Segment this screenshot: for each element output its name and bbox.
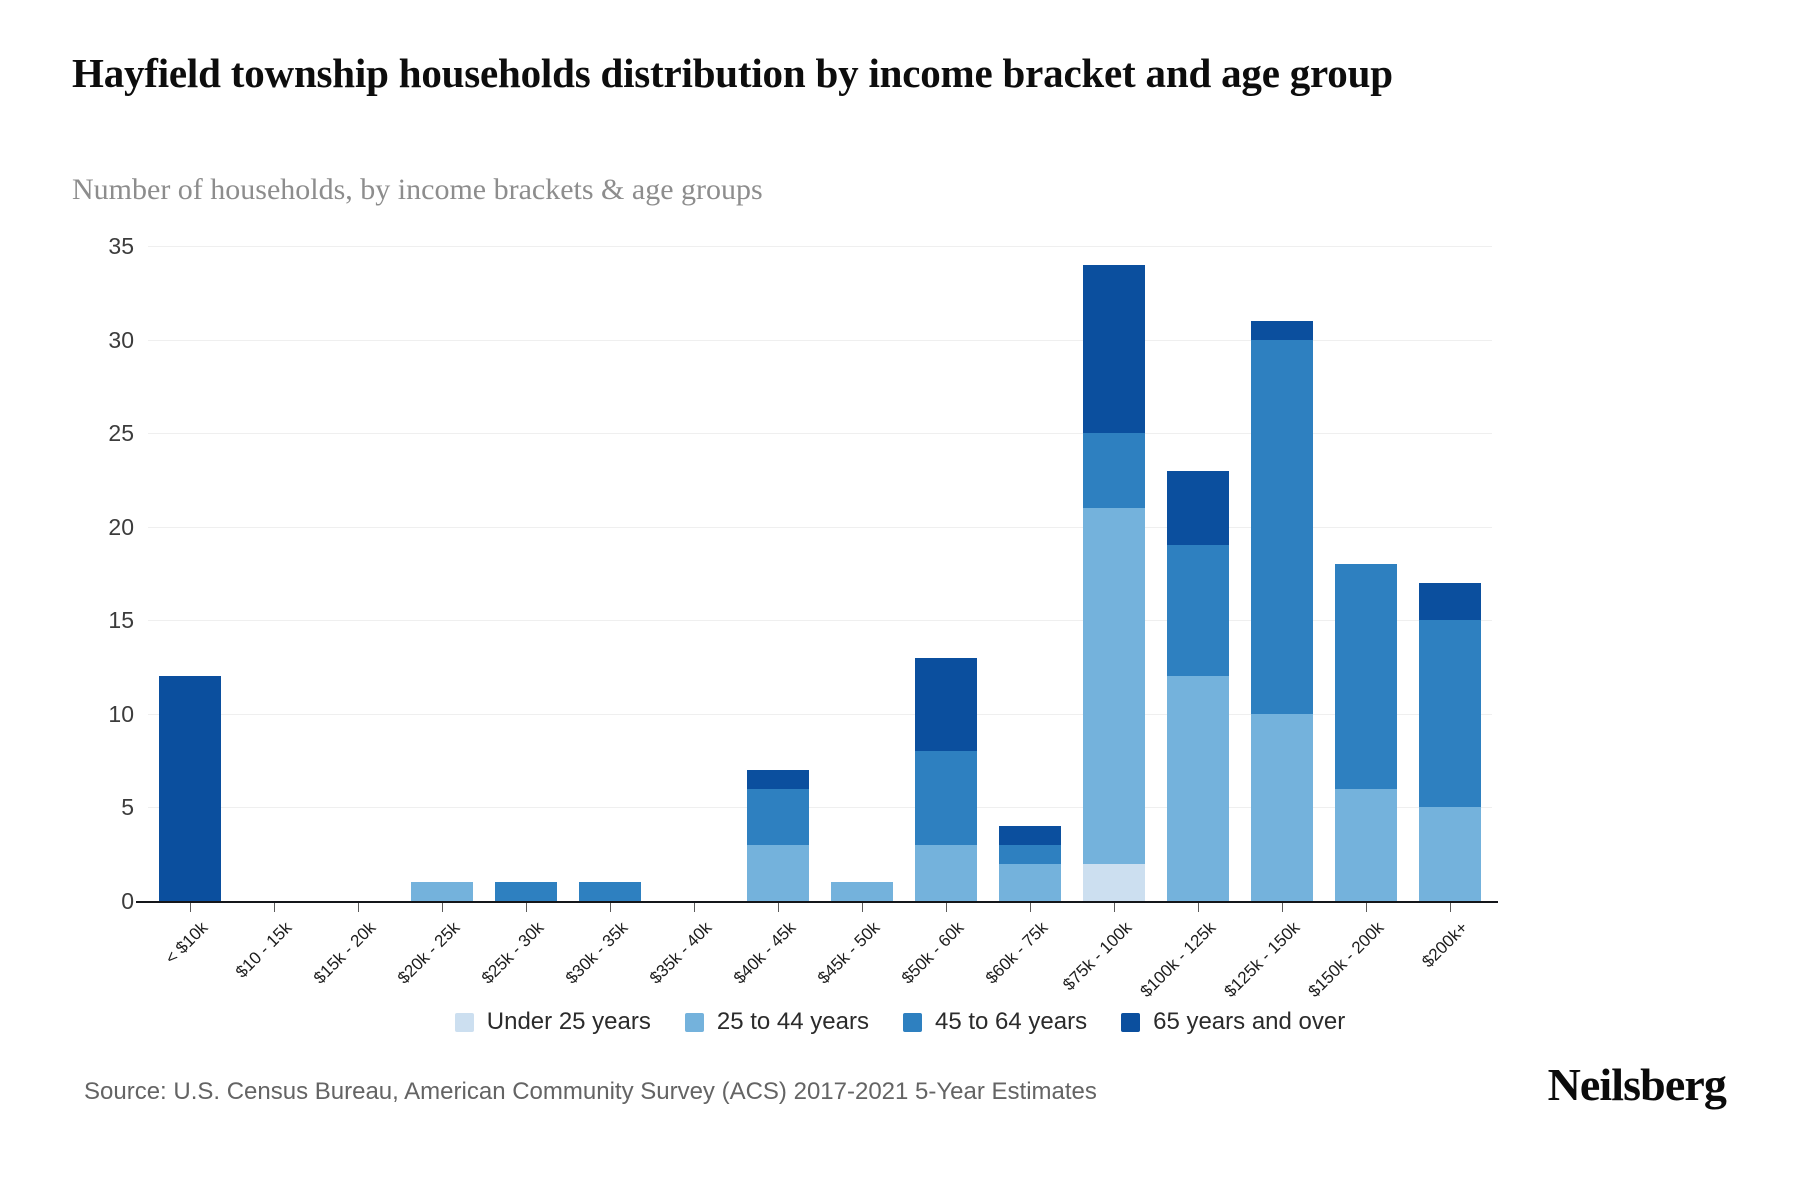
legend-swatch-icon bbox=[903, 1013, 922, 1032]
bar-segment[interactable] bbox=[1419, 807, 1481, 901]
page-title: Hayfield township households distributio… bbox=[72, 48, 1492, 98]
bar-segment[interactable] bbox=[495, 882, 557, 901]
y-axis-tick-label: 35 bbox=[74, 233, 134, 260]
legend-label: Under 25 years bbox=[487, 1008, 651, 1036]
bar-segment[interactable] bbox=[1419, 620, 1481, 807]
bar-segment[interactable] bbox=[411, 882, 473, 901]
x-axis-tickmark bbox=[862, 903, 863, 912]
legend-swatch-icon bbox=[1121, 1013, 1140, 1032]
bar-segment[interactable] bbox=[747, 770, 809, 789]
bar-segment[interactable] bbox=[915, 845, 977, 901]
plot-area: 05101520253035 < $10k$10 - 15k$15k - 20k… bbox=[148, 246, 1492, 901]
x-axis-tickmark bbox=[1450, 903, 1451, 912]
x-axis-label: $200k+ bbox=[1373, 918, 1472, 1017]
bar-stack[interactable] bbox=[999, 826, 1061, 901]
bar-stack[interactable] bbox=[915, 658, 977, 901]
bar-segment[interactable] bbox=[915, 751, 977, 845]
bar-stack[interactable] bbox=[747, 770, 809, 901]
x-axis-tickmark bbox=[610, 903, 611, 912]
bar-stack[interactable] bbox=[1083, 265, 1145, 901]
x-axis-tickmark bbox=[1114, 903, 1115, 912]
x-axis-tickmark bbox=[274, 903, 275, 912]
bar-segment[interactable] bbox=[1251, 714, 1313, 901]
x-axis-tickmark bbox=[190, 903, 191, 912]
bar-segment[interactable] bbox=[1167, 471, 1229, 546]
bar-segment[interactable] bbox=[1251, 321, 1313, 340]
x-axis-tickmark bbox=[946, 903, 947, 912]
bar-segment[interactable] bbox=[1083, 265, 1145, 433]
bar-segment[interactable] bbox=[1083, 433, 1145, 508]
bar-segment[interactable] bbox=[1167, 545, 1229, 676]
legend-item[interactable]: 65 years and over bbox=[1121, 1008, 1345, 1036]
x-axis-tickmark bbox=[1030, 903, 1031, 912]
x-axis-tickmark bbox=[1198, 903, 1199, 912]
y-axis-tick-label: 5 bbox=[74, 794, 134, 821]
bar-stack[interactable] bbox=[1335, 564, 1397, 901]
y-axis-tick-label: 10 bbox=[74, 701, 134, 728]
bar-segment[interactable] bbox=[747, 845, 809, 901]
legend-item[interactable]: 25 to 44 years bbox=[685, 1008, 869, 1036]
brand-logo: Neilsberg bbox=[1548, 1058, 1726, 1111]
legend-item[interactable]: 45 to 64 years bbox=[903, 1008, 1087, 1036]
x-axis-tickmark bbox=[526, 903, 527, 912]
x-axis-tickmark bbox=[694, 903, 695, 912]
x-axis-line bbox=[136, 901, 1498, 903]
chart-legend: Under 25 years25 to 44 years45 to 64 yea… bbox=[0, 1008, 1800, 1036]
bar-segment[interactable] bbox=[999, 826, 1061, 845]
bar-segment[interactable] bbox=[1083, 508, 1145, 864]
bar-segment[interactable] bbox=[1251, 340, 1313, 714]
legend-label: 65 years and over bbox=[1153, 1008, 1345, 1036]
bar-segment[interactable] bbox=[831, 882, 893, 901]
bar-stack[interactable] bbox=[831, 882, 893, 901]
legend-swatch-icon bbox=[685, 1013, 704, 1032]
y-axis-tick-label: 25 bbox=[74, 420, 134, 447]
bar-segment[interactable] bbox=[579, 882, 641, 901]
x-axis-tickmark bbox=[778, 903, 779, 912]
chart-page: Hayfield township households distributio… bbox=[0, 0, 1800, 1200]
source-note: Source: U.S. Census Bureau, American Com… bbox=[84, 1078, 1097, 1106]
bar-stack[interactable] bbox=[1251, 321, 1313, 901]
bar-stack[interactable] bbox=[495, 882, 557, 901]
bar-segment[interactable] bbox=[159, 676, 221, 901]
y-axis-tick-label: 15 bbox=[74, 607, 134, 634]
y-axis-tick-label: 20 bbox=[74, 514, 134, 541]
legend-label: 25 to 44 years bbox=[717, 1008, 869, 1036]
bar-segment[interactable] bbox=[915, 658, 977, 752]
bar-series-layer bbox=[148, 246, 1492, 901]
y-axis-tick-label: 30 bbox=[74, 327, 134, 354]
bar-segment[interactable] bbox=[1335, 789, 1397, 901]
legend-item[interactable]: Under 25 years bbox=[455, 1008, 651, 1036]
bar-stack[interactable] bbox=[1419, 583, 1481, 901]
bar-stack[interactable] bbox=[1167, 471, 1229, 901]
bar-stack[interactable] bbox=[159, 676, 221, 901]
bar-stack[interactable] bbox=[579, 882, 641, 901]
bar-segment[interactable] bbox=[999, 845, 1061, 864]
bar-segment[interactable] bbox=[1419, 583, 1481, 620]
x-axis-tickmark bbox=[1366, 903, 1367, 912]
x-axis-tickmark bbox=[1282, 903, 1283, 912]
legend-swatch-icon bbox=[455, 1013, 474, 1032]
bar-segment[interactable] bbox=[999, 864, 1061, 901]
chart-subtitle: Number of households, by income brackets… bbox=[72, 170, 1372, 209]
bar-segment[interactable] bbox=[1335, 564, 1397, 789]
bar-segment[interactable] bbox=[1167, 676, 1229, 901]
x-axis-tickmark bbox=[442, 903, 443, 912]
bar-segment[interactable] bbox=[747, 789, 809, 845]
bar-segment[interactable] bbox=[1083, 864, 1145, 901]
x-axis-tickmark bbox=[358, 903, 359, 912]
legend-label: 45 to 64 years bbox=[935, 1008, 1087, 1036]
bar-stack[interactable] bbox=[411, 882, 473, 901]
y-axis-tick-label: 0 bbox=[74, 888, 134, 915]
